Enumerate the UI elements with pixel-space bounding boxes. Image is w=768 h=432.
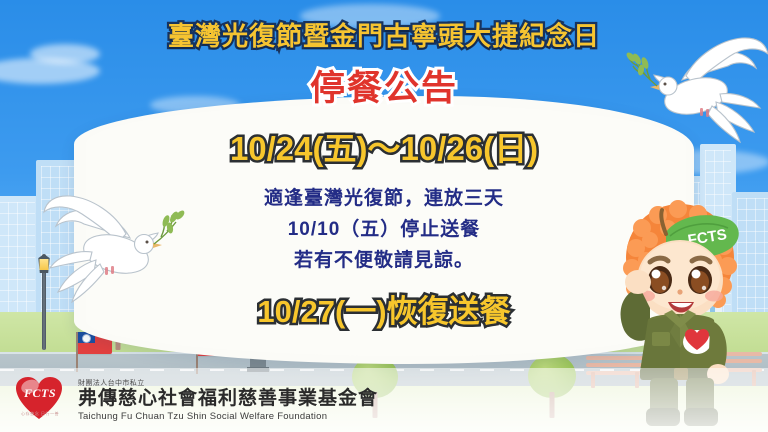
announcement-subtitle: 停餐公告 <box>0 60 768 111</box>
logo-arc-text: 心存善念 日行一善 <box>12 411 68 417</box>
resume-service-date: 10/27(一)恢復送餐 <box>0 286 768 331</box>
footer-branding: FCTS 心存善念 日行一善 財團法人台中市私立 弗傳慈心社會福利慈善事業基金會… <box>10 372 378 428</box>
poster-canvas: FCTS <box>0 0 768 432</box>
page-title: 臺灣光復節暨金門古寧頭大捷紀念日 <box>0 16 768 53</box>
organization-name-block: 財團法人台中市私立 弗傳慈心社會福利慈善事業基金會 Taichung Fu Ch… <box>78 378 378 422</box>
logo-monogram: FCTS <box>21 386 59 401</box>
body-line-2: 10/10（五）停止送餐 <box>0 214 768 241</box>
org-name-chinese: 弗傳慈心社會福利慈善事業基金會 <box>78 389 378 409</box>
fcts-logo: FCTS 心存善念 日行一善 <box>10 373 70 427</box>
body-line-1: 適逢臺灣光復節，連放三天 <box>0 183 768 210</box>
suspension-date-range: 10/24(五)～10/26(日) <box>0 122 768 170</box>
body-line-3: 若有不便敬請見諒。 <box>0 245 768 272</box>
org-name-english: Taichung Fu Chuan Tzu Shin Social Welfar… <box>78 411 378 422</box>
org-legal-prefix: 財團法人台中市私立 <box>78 378 378 388</box>
